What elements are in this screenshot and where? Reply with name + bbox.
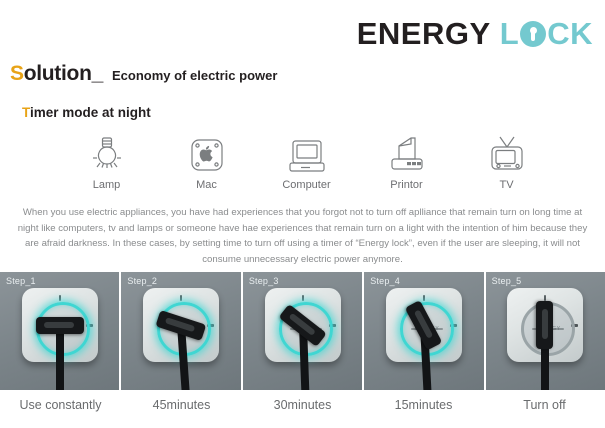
- step-image-strip: Step_1 Step_2 ENERGY: [0, 272, 605, 390]
- device-item-lamp: Lamp: [71, 134, 143, 191]
- step-panel: Step_3 ENERGY: [243, 272, 362, 390]
- led-indicator-icon: [423, 295, 425, 301]
- timer-rest-text: imer mode at night: [30, 105, 151, 120]
- step-caption-row: Use constantly 45minutes 30minutes 15min…: [0, 398, 605, 412]
- step-caption: 30minutes: [242, 398, 363, 412]
- plug-body: [536, 301, 553, 349]
- solution-accent-letter: S: [10, 62, 24, 85]
- device-item-computer: Computer: [271, 134, 343, 191]
- device-label: Lamp: [93, 179, 121, 191]
- step-panel: Step_2 ENERGY: [121, 272, 240, 390]
- step-label: Step_5: [492, 276, 522, 286]
- solution-word: Solution_: [10, 62, 103, 86]
- device-icon-row: Lamp Mac Computer: [0, 134, 605, 191]
- solution-subtitle: Economy of electric power: [112, 68, 277, 83]
- smart-outlet-graphic: ENERGY: [507, 288, 583, 362]
- step-caption: Use constantly: [0, 398, 121, 412]
- lock-keyhole-icon: [520, 21, 546, 47]
- step-panel: Step_1: [0, 272, 119, 390]
- mac-icon: [187, 134, 227, 176]
- led-indicator-icon: [302, 295, 304, 301]
- led-indicator-icon: [180, 295, 182, 301]
- smart-outlet-graphic: ENERGY: [386, 288, 462, 362]
- logo-l-text: L: [500, 16, 519, 52]
- device-label: Printor: [390, 179, 422, 191]
- device-label: TV: [499, 179, 513, 191]
- step-label: Step_2: [127, 276, 157, 286]
- page-header: ENERGY L CK: [0, 0, 605, 58]
- solution-rest-text: olution_: [24, 62, 103, 85]
- device-item-printer: Printor: [371, 134, 443, 191]
- plug-body: [36, 317, 84, 334]
- device-label: Mac: [196, 179, 217, 191]
- tv-icon: [486, 134, 528, 176]
- timer-accent-letter: T: [22, 105, 30, 120]
- step-label: Step_3: [249, 276, 279, 286]
- smart-outlet-graphic: ENERGY: [265, 288, 341, 362]
- timer-heading: Timer mode at night: [22, 105, 605, 120]
- brand-logo: ENERGY L CK: [357, 16, 593, 52]
- step-caption: 15minutes: [363, 398, 484, 412]
- description-paragraph: When you use electric appliances, you ha…: [14, 205, 591, 267]
- step-label: Step_1: [6, 276, 36, 286]
- device-label: Computer: [282, 179, 330, 191]
- smart-outlet-graphic: ENERGY: [143, 288, 219, 362]
- lamp-icon: [85, 134, 129, 176]
- led-indicator-icon: [59, 295, 61, 301]
- step-label: Step_4: [370, 276, 400, 286]
- step-panel: Step_4 ENERGY: [364, 272, 483, 390]
- step-panel: Step_5 ENERGY: [486, 272, 605, 390]
- solution-heading: Solution_ Economy of electric power: [10, 62, 605, 86]
- power-cord: [56, 325, 64, 390]
- computer-icon: [286, 134, 328, 176]
- smart-outlet-graphic: [22, 288, 98, 362]
- printer-icon: [385, 134, 429, 176]
- step-caption: Turn off: [484, 398, 605, 412]
- device-item-tv: TV: [471, 134, 543, 191]
- device-item-mac: Mac: [171, 134, 243, 191]
- logo-ck-text: CK: [547, 16, 593, 52]
- logo-energy-text: ENERGY: [357, 16, 491, 52]
- step-caption: 45minutes: [121, 398, 242, 412]
